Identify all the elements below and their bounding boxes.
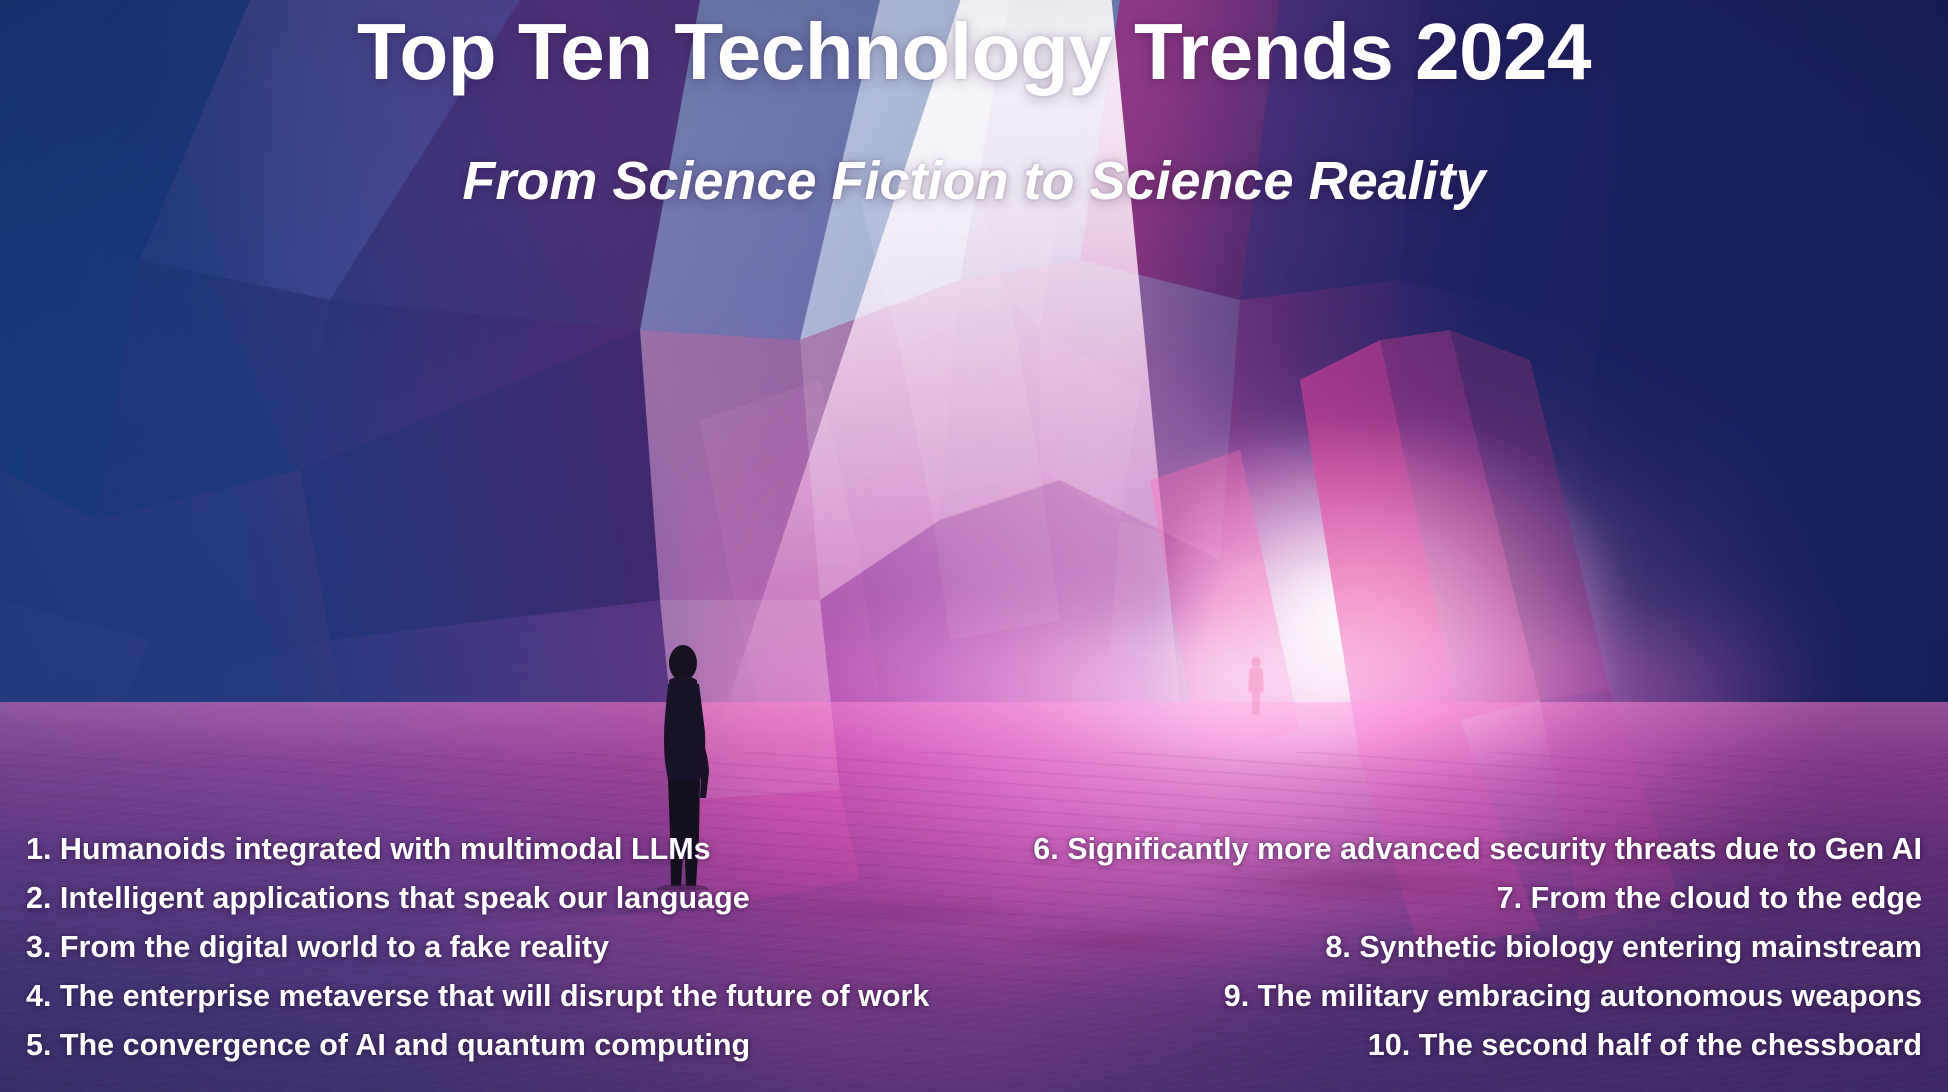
trend-item: 8. Synthetic biology entering mainstream xyxy=(1033,923,1922,972)
trend-item: 9. The military embracing autonomous wea… xyxy=(1033,972,1922,1021)
trend-item: 2. Intelligent applications that speak o… xyxy=(26,874,929,923)
trend-item: 3. From the digital world to a fake real… xyxy=(26,923,929,972)
trend-item: 7. From the cloud to the edge xyxy=(1033,874,1922,923)
trend-item: 1. Humanoids integrated with multimodal … xyxy=(26,825,929,874)
page-title: Top Ten Technology Trends 2024 xyxy=(0,12,1948,92)
trends-right-column: 6. Significantly more advanced security … xyxy=(1033,825,1922,1070)
trend-item: 10. The second half of the chessboard xyxy=(1033,1021,1922,1070)
trend-item: 5. The convergence of AI and quantum com… xyxy=(26,1021,929,1070)
trends-left-column: 1. Humanoids integrated with multimodal … xyxy=(26,825,929,1070)
poster: Top Ten Technology Trends 2024 From Scie… xyxy=(0,0,1948,1092)
trend-item: 6. Significantly more advanced security … xyxy=(1033,825,1922,874)
page-subtitle: From Science Fiction to Science Reality xyxy=(0,150,1948,212)
trend-item: 4. The enterprise metaverse that will di… xyxy=(26,972,929,1021)
